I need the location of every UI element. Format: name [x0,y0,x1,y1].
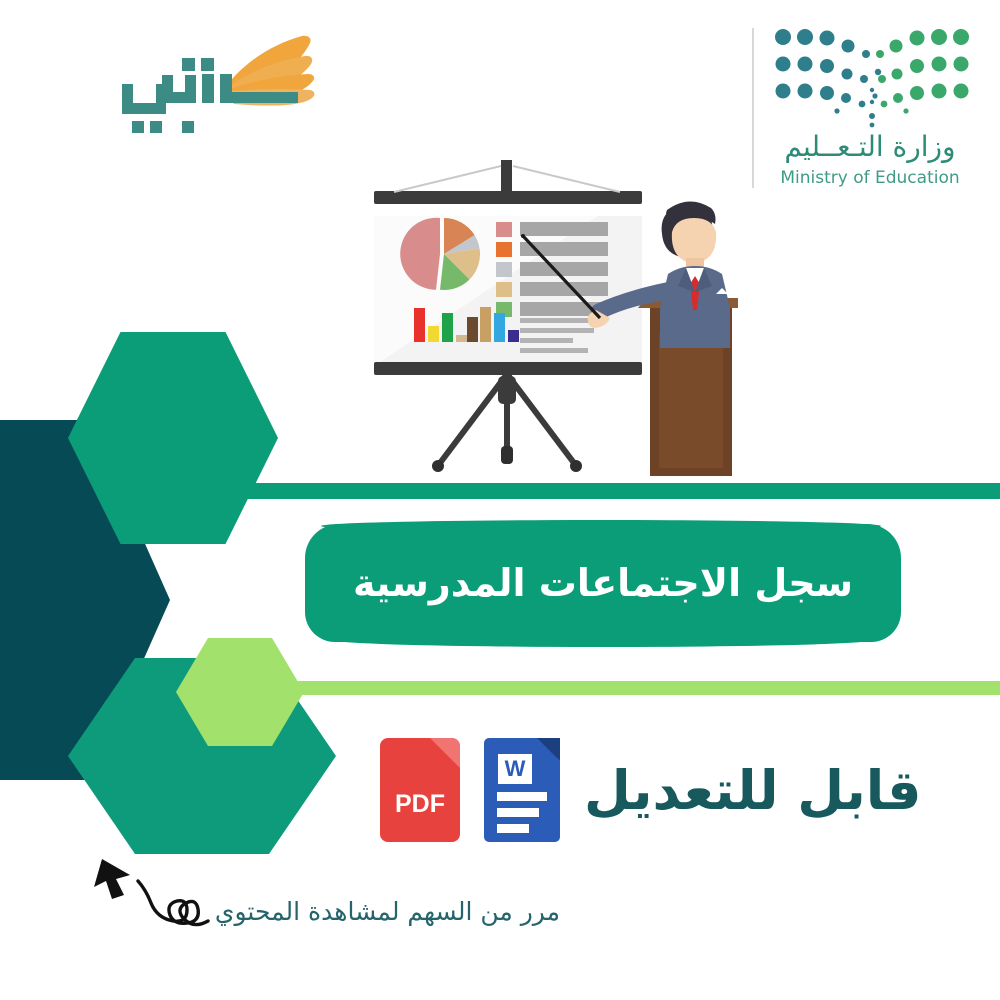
page-title: سجل الاجتماعات المدرسية [353,561,853,605]
logo-divider [752,28,754,188]
word-icon-line [497,792,547,801]
poster-canvas: وزارة التـعــليم Ministry of Education [0,0,1000,1000]
swipe-hint-text: مرر من السهم لمشاهدة المحتوي [200,897,560,926]
pdf-file-icon[interactable]: PDF [380,738,460,842]
decor-bar-green [235,483,1000,499]
ministry-name-english: Ministry of Education [772,168,968,188]
word-icon-letter-box: W [498,754,532,784]
brand-logo [70,28,330,148]
ministry-name-arabic: وزارة التـعــليم [772,130,968,163]
dot-matrix-palm-icon [774,24,970,128]
word-icon-line [497,808,539,817]
editable-formats-row: قابل للتعديل W PDF [380,730,960,850]
pdf-icon-label: PDF [380,790,460,819]
word-icon-line [497,824,529,833]
open-book-pages-icon [70,28,330,148]
decor-bar-lime [280,681,1000,695]
editable-label: قابل للتعديل [584,759,921,822]
presenter-illustration [368,158,738,483]
ministry-logo: وزارة التـعــليم Ministry of Education [752,22,967,192]
word-file-icon[interactable]: W [484,738,560,842]
word-icon-letter: W [505,758,526,780]
title-banner: سجل الاجتماعات المدرسية [305,524,901,642]
swipe-hint: مرر من السهم لمشاهدة المحتوي [90,855,560,950]
